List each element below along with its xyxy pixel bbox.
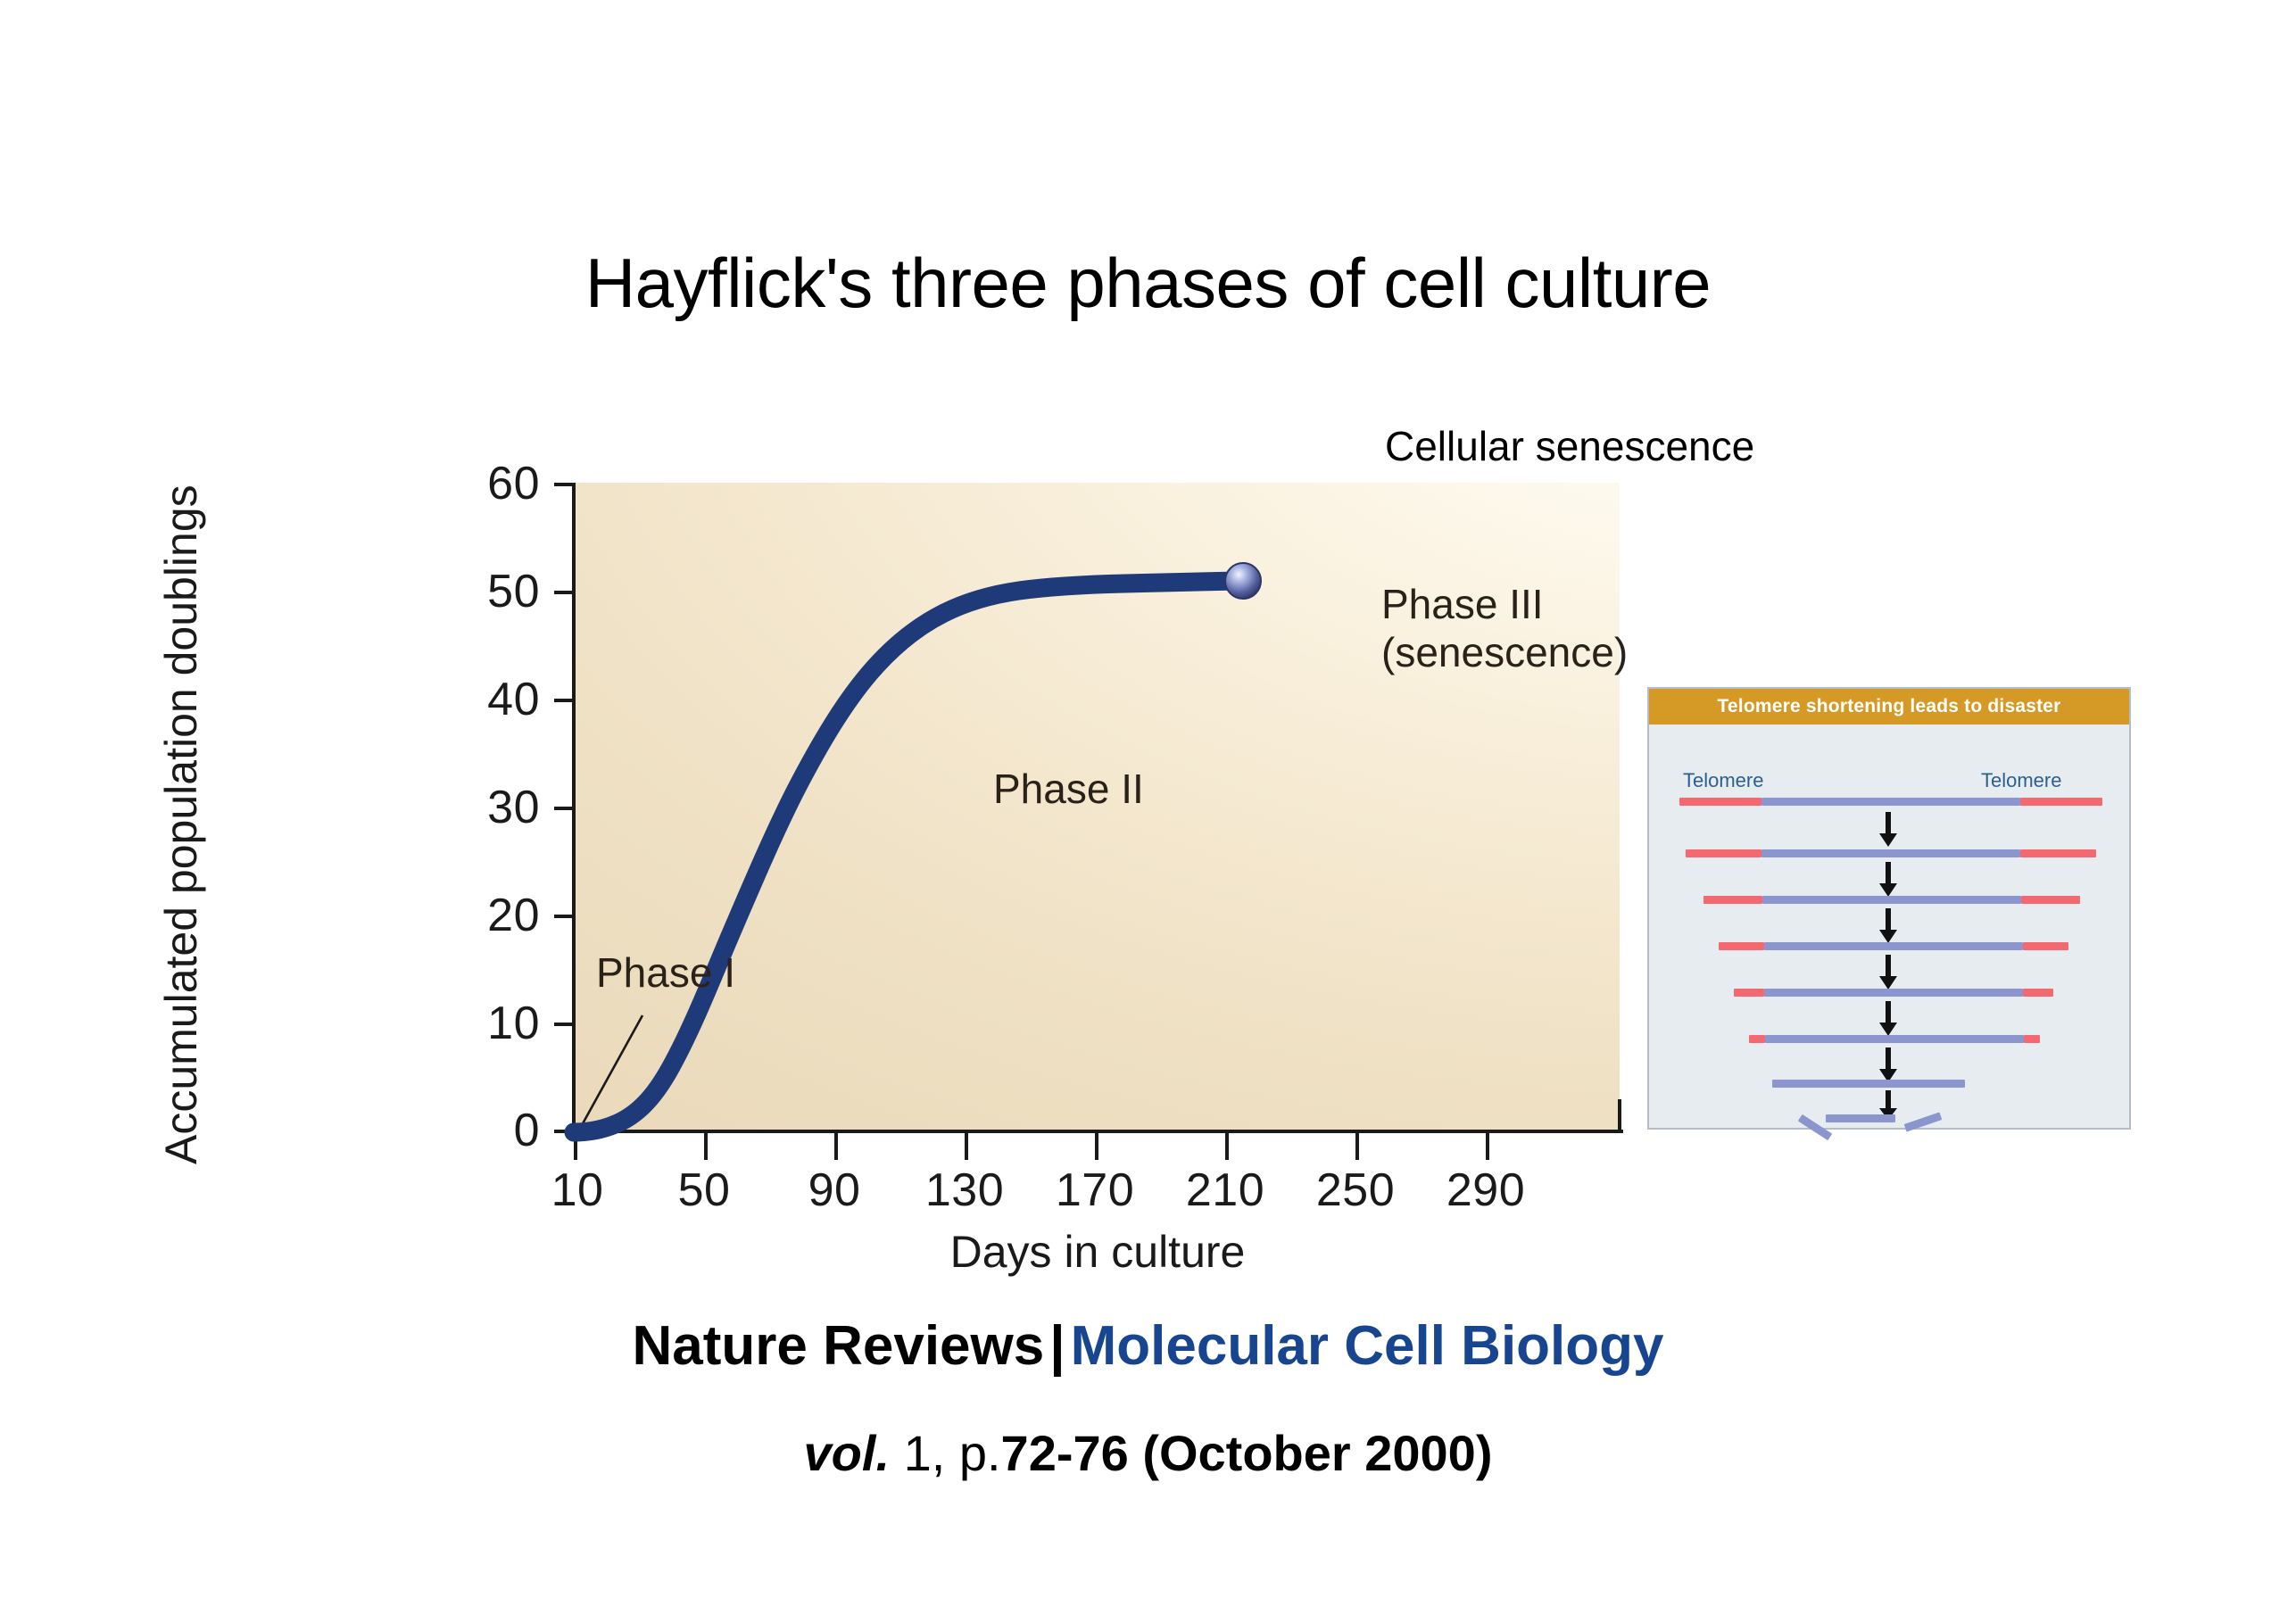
journal-name-primary: Nature Reviews — [632, 1315, 1044, 1377]
x-axis-title: Days in culture — [576, 1230, 1620, 1274]
shortening-arrow — [1874, 812, 1902, 848]
shortening-arrow — [1874, 1001, 1902, 1037]
journal-separator: | — [1044, 1315, 1070, 1377]
chromosome-core — [1765, 1035, 2024, 1043]
telomere-inset-body: Telomere Telomere — [1649, 725, 2129, 1128]
y-tick-label-40: 40 — [442, 676, 540, 723]
telomere-cap-right — [2020, 798, 2102, 806]
telomere-cap-right — [2023, 942, 2068, 950]
senescence-endpoint-marker — [1225, 563, 1261, 599]
volume-word: vol. — [804, 1425, 890, 1481]
chromosome-core — [1764, 989, 2023, 997]
shortening-arrow — [1874, 862, 1902, 898]
chromosome-row — [1703, 896, 2080, 904]
y-axis-title: Accumulated population doublings — [159, 486, 203, 1164]
telomere-cap-right — [2023, 989, 2053, 997]
telomere-cap-left — [1679, 798, 1761, 806]
telomere-cap-left — [1686, 849, 1761, 857]
chromosome-core — [1764, 942, 2023, 950]
phase-3-annotation-line-1: Phase III — [1381, 580, 1628, 628]
y-tick-label-20: 20 — [442, 892, 540, 939]
volume-separator: , p. — [932, 1425, 1001, 1481]
shortening-arrow — [1874, 908, 1902, 944]
x-tick-label-50: 50 — [633, 1167, 775, 1213]
chromosome-fragment — [1826, 1114, 1895, 1122]
x-tick-label-170: 170 — [1024, 1167, 1166, 1213]
journal-name-secondary: Molecular Cell Biology — [1071, 1315, 1664, 1377]
telomere-inset-title: Telomere shortening leads to disaster — [1649, 689, 2129, 725]
chromosome-core — [1761, 849, 2020, 857]
shortening-arrow — [1874, 1047, 1902, 1083]
phase-1-annotation: Phase I — [596, 948, 735, 997]
y-tick-label-60: 60 — [442, 460, 540, 507]
x-tick-label-290: 290 — [1414, 1167, 1557, 1213]
chromosome-core — [1762, 896, 2021, 904]
telomere-label-right: Telomere — [1981, 771, 2061, 791]
chromosome-row — [1772, 1080, 1965, 1088]
volume-number: 1 — [904, 1425, 932, 1481]
chromosome-fragment — [1904, 1112, 1943, 1131]
y-tick-label-30: 30 — [442, 784, 540, 831]
telomere-label-left: Telomere — [1683, 771, 1763, 791]
telomere-cap-left — [1734, 989, 1764, 997]
telomere-cap-left — [1719, 942, 1764, 950]
volume-pages: 72-76 (October 2000) — [1001, 1425, 1493, 1481]
x-tick-label-90: 90 — [763, 1167, 906, 1213]
y-tick-label-10: 10 — [442, 1000, 540, 1047]
y-tick-label-0: 0 — [442, 1107, 540, 1154]
x-tick-label-130: 130 — [893, 1167, 1036, 1213]
x-tick-label-210: 210 — [1154, 1167, 1297, 1213]
telomere-inset-panel: Telomere shortening leads to disaster Te… — [1647, 687, 2131, 1130]
x-tick-label-10: 10 — [506, 1167, 649, 1213]
telomere-cap-right — [2020, 849, 2096, 857]
volume-credit: vol. 1, p.72-76 (October 2000) — [0, 1428, 2296, 1478]
hayflick-figure: Cellular senescence 60 50 40 30 20 10 0 … — [0, 0, 2296, 1623]
chromosome-core — [1761, 798, 2020, 806]
shortening-arrow — [1874, 955, 1902, 990]
phase-3-annotation: Phase III (senescence) — [1381, 580, 1628, 676]
telomere-cap-right — [2021, 896, 2080, 904]
chromosome-row — [1749, 1035, 2040, 1043]
y-tick-label-50: 50 — [442, 568, 540, 615]
phase-3-annotation-line-2: (senescence) — [1381, 628, 1628, 676]
population-doubling-curve — [574, 581, 1237, 1132]
chromosome-row — [1734, 989, 2053, 997]
chromosome-row — [1686, 849, 2096, 857]
telomere-cap-left — [1749, 1035, 1765, 1043]
phase-2-annotation: Phase II — [993, 765, 1144, 813]
x-tick-label-250: 250 — [1284, 1167, 1427, 1213]
chromosome-row — [1679, 798, 2102, 806]
chromosome-core — [1772, 1080, 1965, 1088]
chromosome-row — [1719, 942, 2068, 950]
journal-credit: Nature Reviews|Molecular Cell Biology — [0, 1319, 2296, 1374]
telomere-cap-left — [1703, 896, 1762, 904]
telomere-cap-right — [2024, 1035, 2040, 1043]
